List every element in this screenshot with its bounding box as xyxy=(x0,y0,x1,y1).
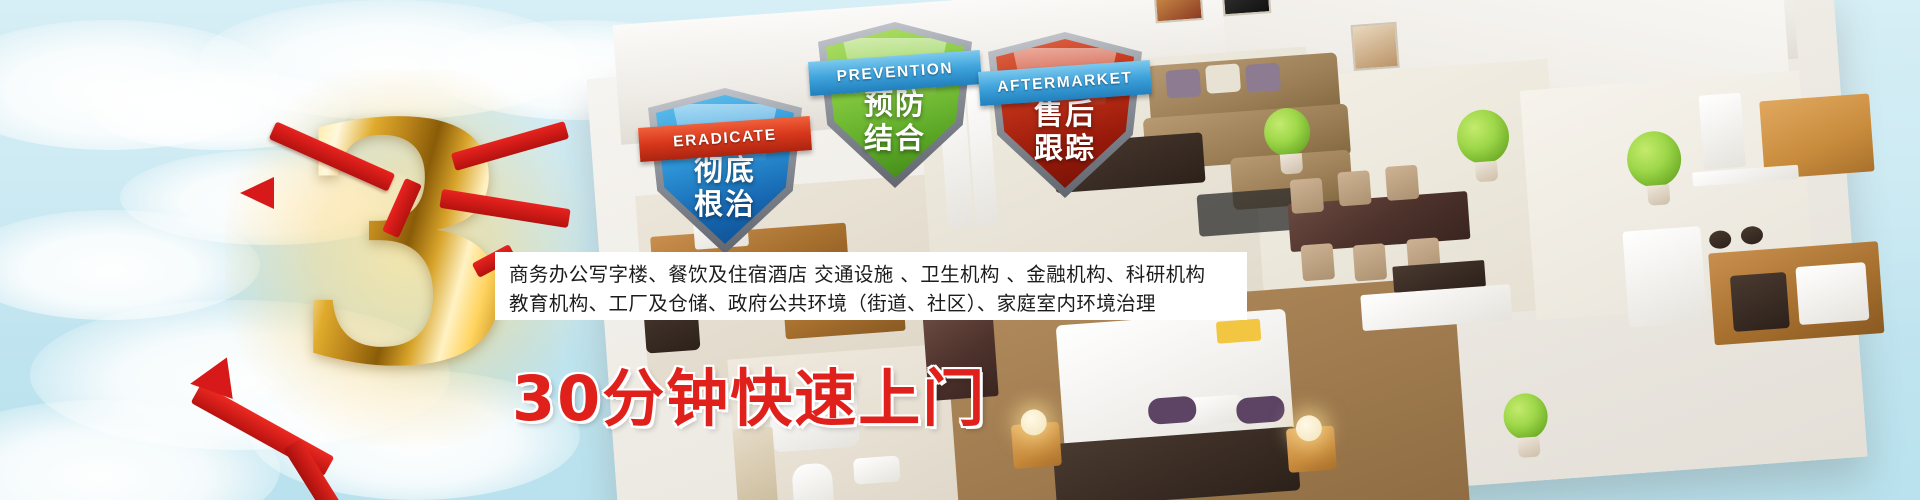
shield-badge-aftermarket: 售后 跟踪 AFTERMARKET xyxy=(988,32,1142,198)
shield-ribbon-label: AFTERMARKET xyxy=(997,69,1133,96)
oven xyxy=(1730,272,1790,332)
shield-cn-line-2: 根治 xyxy=(648,188,802,222)
shield-chinese-text: 彻底 根治 xyxy=(648,154,802,222)
promo-banner: 3 彻底 根治 ERADICATE 预防 结合 xyxy=(0,0,1920,500)
bed-throw xyxy=(1216,319,1261,344)
toilet xyxy=(791,462,834,500)
wall-art xyxy=(1153,0,1204,23)
shield-badge-prevention: 预防 结合 PREVENTION xyxy=(818,22,972,188)
dining-chair xyxy=(1353,243,1388,281)
sink xyxy=(853,455,901,484)
shield-ribbon-label: PREVENTION xyxy=(836,60,954,86)
ribbon-tail xyxy=(240,177,274,209)
shield-cn-line-2: 结合 xyxy=(818,122,972,156)
dining-chair xyxy=(1290,178,1324,214)
range-hood xyxy=(1699,93,1746,170)
service-scope-line-2: 教育机构、工厂及仓储、政府公共环境（街道、社区）、家庭室内环境治理 xyxy=(509,289,1233,318)
shield-cn-line-2: 跟踪 xyxy=(988,132,1142,166)
service-scope-panel: 商务办公写字楼、餐饮及住宿酒店 交通设施 、卫生机构 、金融机构、科研机构 教育… xyxy=(495,252,1247,320)
dining-chair xyxy=(1385,165,1419,201)
pillow xyxy=(1147,396,1197,425)
shield-badge-eradicate: 彻底 根治 ERADICATE xyxy=(648,88,802,254)
shield-chinese-text: 售后 跟踪 xyxy=(988,98,1142,166)
dishwasher xyxy=(1795,262,1869,325)
service-scope-line-1: 商务办公写字楼、餐饮及住宿酒店 交通设施 、卫生机构 、金融机构、科研机构 xyxy=(509,260,1233,289)
cloud-shape xyxy=(0,210,260,320)
dining-chair xyxy=(1337,170,1371,206)
cushion xyxy=(1165,68,1201,98)
shield-chinese-text: 预防 结合 xyxy=(818,88,972,156)
cushion xyxy=(1205,63,1241,93)
cushion xyxy=(1245,62,1281,92)
pillow xyxy=(1236,395,1286,424)
refrigerator xyxy=(1622,226,1707,327)
plant-pot xyxy=(1517,436,1540,458)
headline-text: 30分钟快速上门 xyxy=(512,348,986,438)
wall-painting xyxy=(1350,22,1399,71)
plant-pot xyxy=(1280,153,1303,175)
plant-pot xyxy=(1647,184,1670,206)
plant-pot xyxy=(1475,161,1498,183)
red-swoosh-arrow-icon xyxy=(196,362,366,482)
shield-ribbon-label: ERADICATE xyxy=(673,126,778,151)
dining-chair xyxy=(1300,243,1335,281)
arrow-head xyxy=(187,357,232,404)
